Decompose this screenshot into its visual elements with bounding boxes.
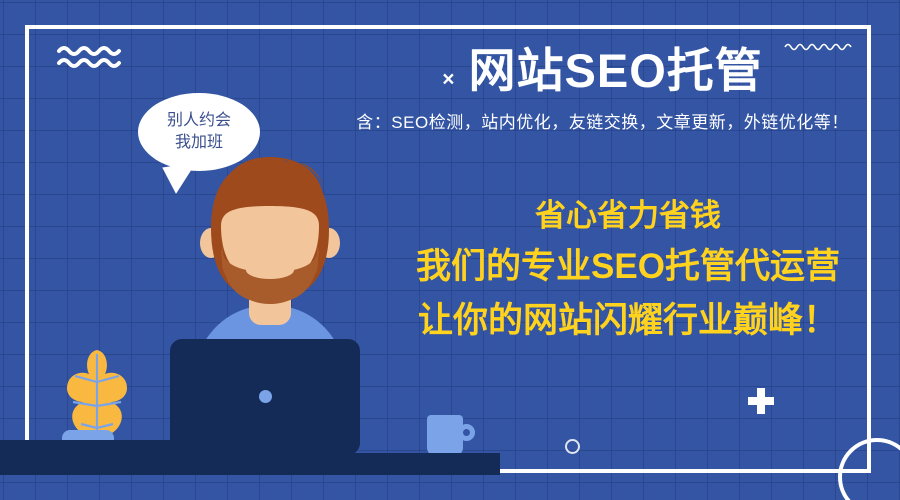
speech-bubble-line-1: 别人约会	[167, 110, 231, 132]
desk-surface-left	[0, 440, 180, 454]
desk-surface	[0, 453, 500, 475]
speech-bubble-line-2: 我加班	[175, 132, 223, 154]
coffee-mug-icon	[427, 415, 463, 455]
laptop-logo-dot-icon	[259, 390, 272, 403]
speech-bubble: 别人约会 我加班	[138, 93, 260, 171]
speech-bubble-tail	[162, 163, 200, 195]
seo-poster: × 网站SEO托管 含：SEO检测，站内优化，友链交换，文章更新，外链优化等！ …	[0, 0, 900, 500]
